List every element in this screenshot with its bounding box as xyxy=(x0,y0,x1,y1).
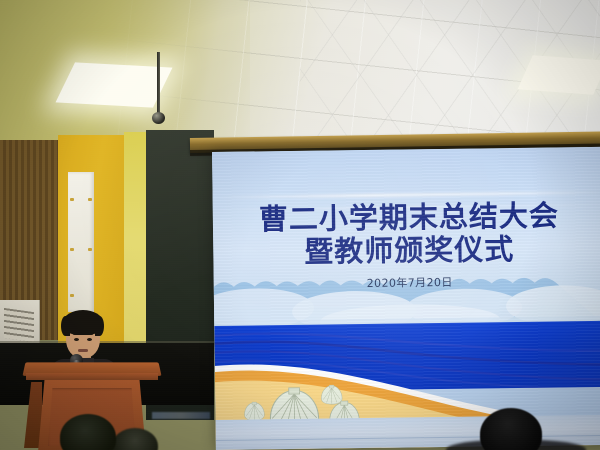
presenter-hair-side-right xyxy=(95,316,104,336)
wall-white-strip xyxy=(68,172,94,312)
presenter-eye-left xyxy=(74,338,79,341)
slide-title-line-2: 暨教师颁奖仪式 xyxy=(213,233,600,269)
strip-fastener xyxy=(88,248,92,251)
strip-fastener xyxy=(70,294,74,297)
camera-mount-pole xyxy=(157,52,160,115)
strip-fastener xyxy=(70,248,74,251)
ceiling-light-panel-left xyxy=(56,62,173,107)
seashell-small-left xyxy=(243,401,265,421)
lectern-lip xyxy=(26,373,158,380)
strip-fastener xyxy=(70,198,74,201)
dark-board-reflection xyxy=(152,412,210,419)
photo-scene: 曹二小学期末总结大会 暨教师颁奖仪式 2020年7月20日 xyxy=(0,0,600,450)
strip-fastener xyxy=(88,198,92,201)
slide-title-line-1: 曹二小学期末总结大会 xyxy=(213,200,600,236)
ceiling-light-panel-right xyxy=(518,55,600,94)
slide-text-block: 曹二小学期末总结大会 暨教师颁奖仪式 2020年7月20日 xyxy=(212,147,600,294)
ceiling-dome-camera-icon xyxy=(152,112,165,124)
presenter-hair-side-left xyxy=(61,316,70,336)
presenter-mouth xyxy=(78,349,88,352)
projection-screen: 曹二小学期末总结大会 暨教师颁奖仪式 2020年7月20日 xyxy=(212,147,600,450)
air-conditioner-vent-icon xyxy=(4,308,34,342)
presenter-eye-right xyxy=(87,338,92,341)
